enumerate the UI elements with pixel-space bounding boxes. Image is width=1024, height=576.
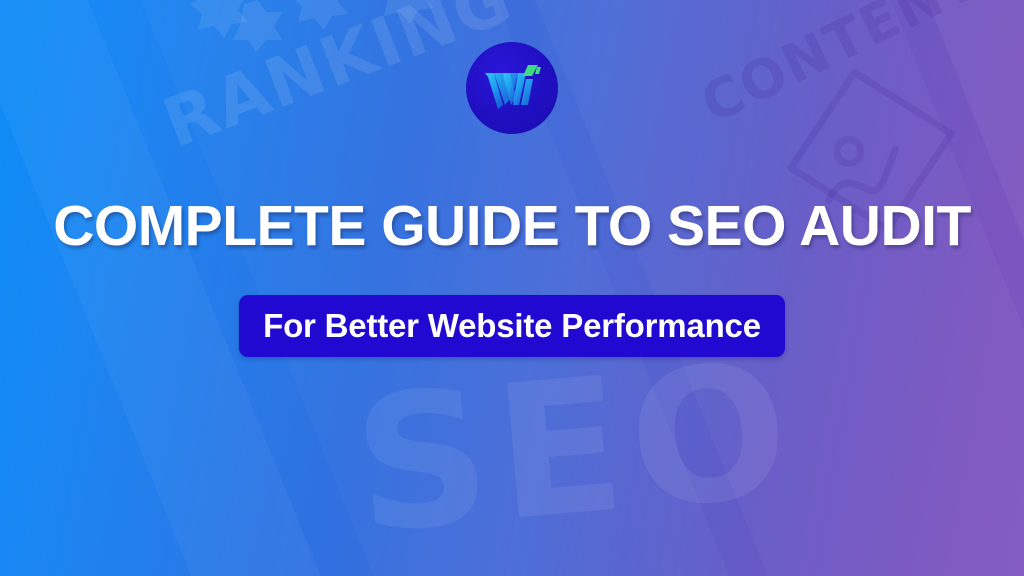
watermark-seo: SEO [346, 321, 804, 575]
seo-audit-banner: RANKING CONTENT SEO [0, 0, 1024, 576]
page-title: COMPLETE GUIDE TO SEO AUDIT [0, 198, 1024, 255]
brand-logo [466, 42, 558, 134]
logo-circle [466, 42, 558, 134]
streak-5 [980, 0, 1024, 576]
subtitle-container: For Better Website Performance [0, 295, 1024, 357]
subtitle-pill: For Better Website Performance [239, 295, 785, 357]
w-monogram-icon [483, 65, 541, 111]
